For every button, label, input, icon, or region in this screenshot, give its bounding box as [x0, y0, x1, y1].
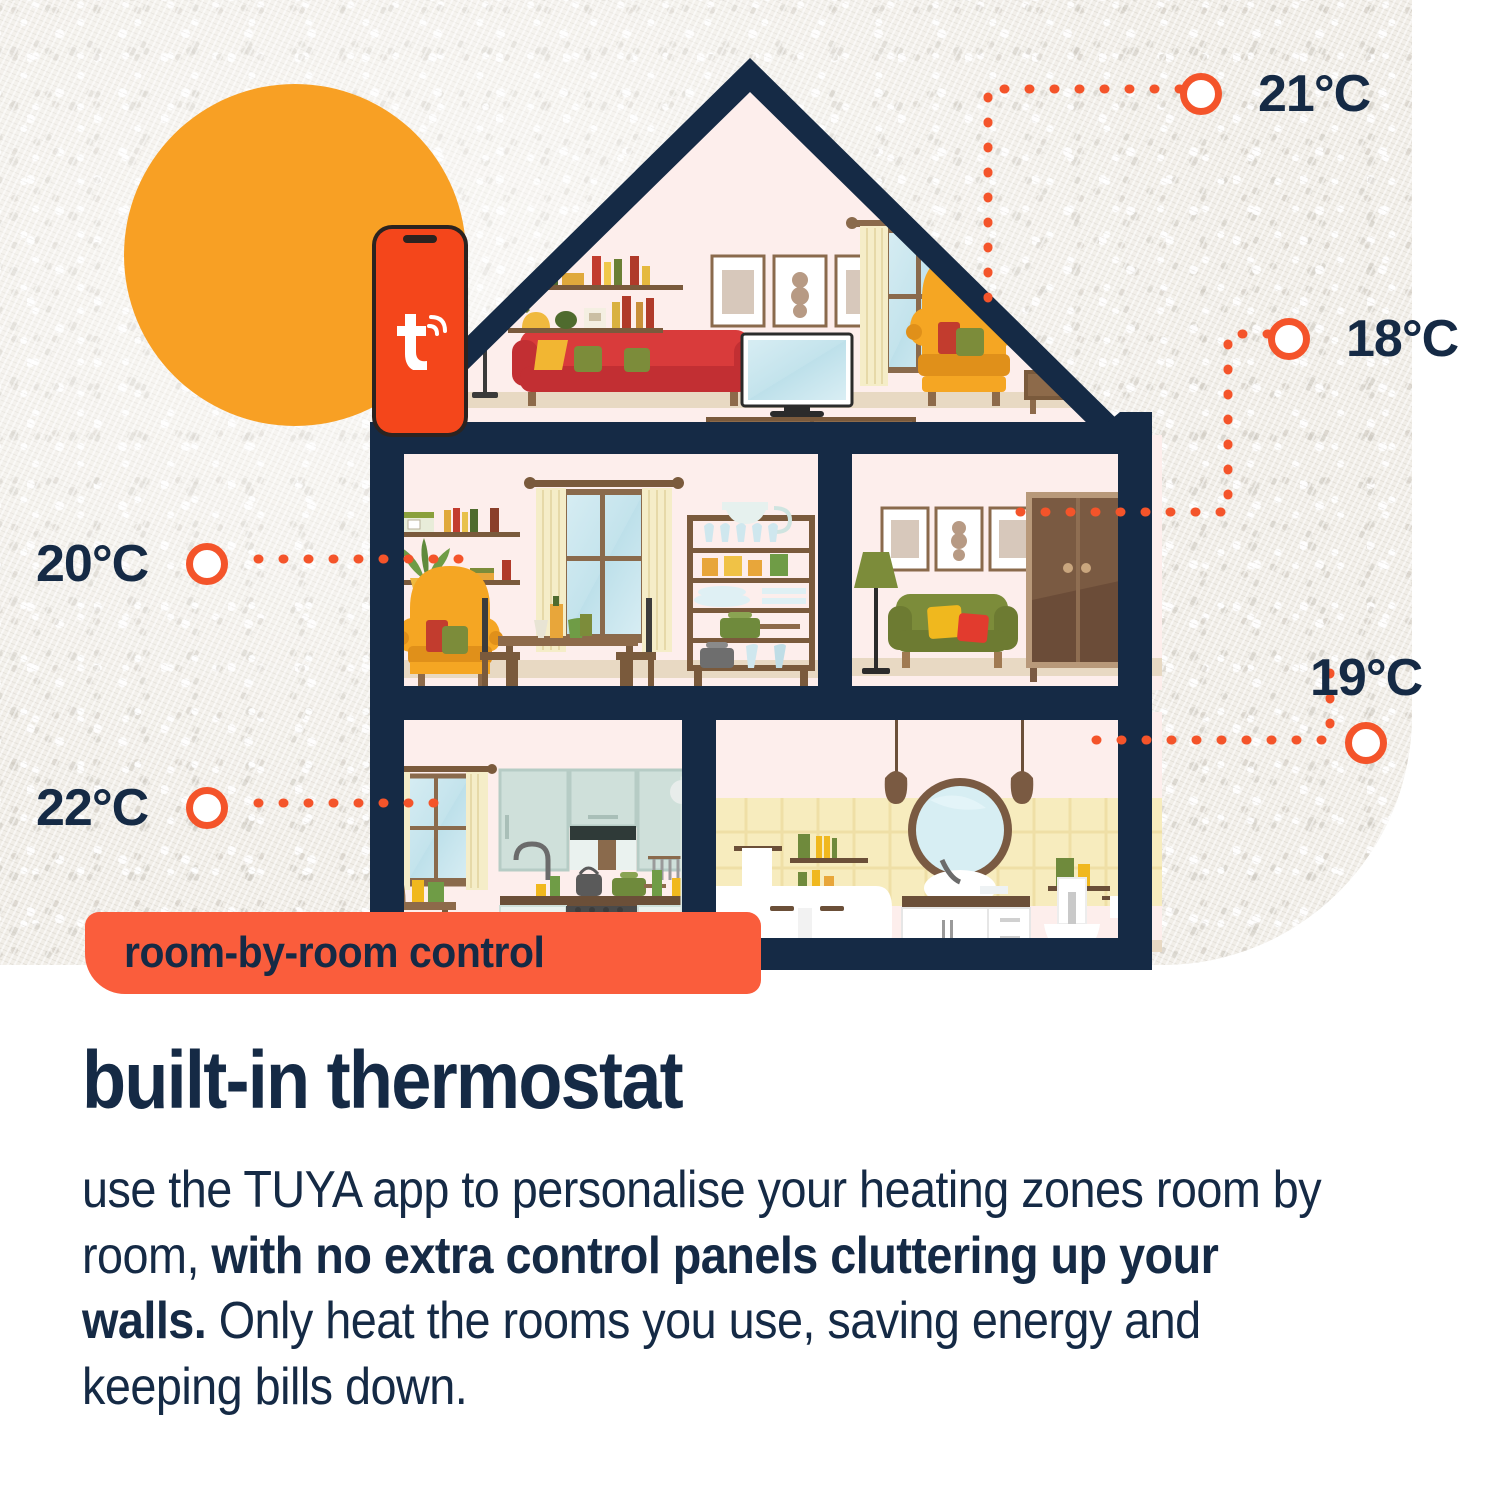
- extractor-hood: [570, 826, 636, 840]
- cushion-green-2: [624, 348, 650, 372]
- smartphone-icon: [372, 225, 468, 437]
- temperature-marker-ring: [186, 543, 228, 585]
- kitchen-upper-cabinets: [500, 770, 688, 870]
- television: [742, 334, 852, 417]
- temperature-value: 20°C: [36, 538, 148, 590]
- temperature-marker-bathroom[interactable]: 19°C: [1310, 652, 1422, 764]
- tuya-logo-icon: [391, 308, 449, 370]
- temperature-marker-dining-room[interactable]: 20°C: [36, 538, 228, 590]
- temperature-value: 21°C: [1258, 68, 1370, 120]
- dining-window: [524, 477, 684, 652]
- temperature-marker-upper-bedroom[interactable]: 18°C: [1268, 313, 1458, 365]
- phone-screen: [376, 229, 464, 433]
- temperature-marker-ring: [1268, 318, 1310, 360]
- temperature-marker-ring: [1180, 73, 1222, 115]
- body-copy-part2: Only heat the rooms you use, saving ener…: [82, 1292, 1201, 1416]
- house-cutaway-illustration: [330, 40, 1210, 970]
- temperature-marker-kitchen[interactable]: 22°C: [36, 782, 228, 834]
- phone-notch: [403, 235, 437, 243]
- wardrobe: [1026, 492, 1130, 682]
- cushion-green: [574, 346, 602, 372]
- temperature-marker-attic-living-room[interactable]: 21°C: [1180, 68, 1370, 120]
- body-copy: use the TUYA app to personalise your hea…: [82, 1158, 1338, 1420]
- temperature-value: 22°C: [36, 782, 148, 834]
- bedroom-pictures: [882, 508, 1036, 570]
- page-title: built-in thermostat: [82, 1040, 682, 1122]
- badge-label: room-by-room control: [85, 928, 544, 978]
- potted-plant: [1124, 322, 1162, 410]
- temperature-value: 18°C: [1346, 313, 1458, 365]
- temperature-marker-ring: [186, 787, 228, 829]
- round-mirror: [908, 778, 1012, 882]
- room-by-room-control-badge: room-by-room control: [85, 912, 761, 994]
- temperature-marker-ring: [1345, 722, 1387, 764]
- temperature-value: 19°C: [1310, 652, 1422, 704]
- tuya-app-badge-circle: [124, 84, 466, 426]
